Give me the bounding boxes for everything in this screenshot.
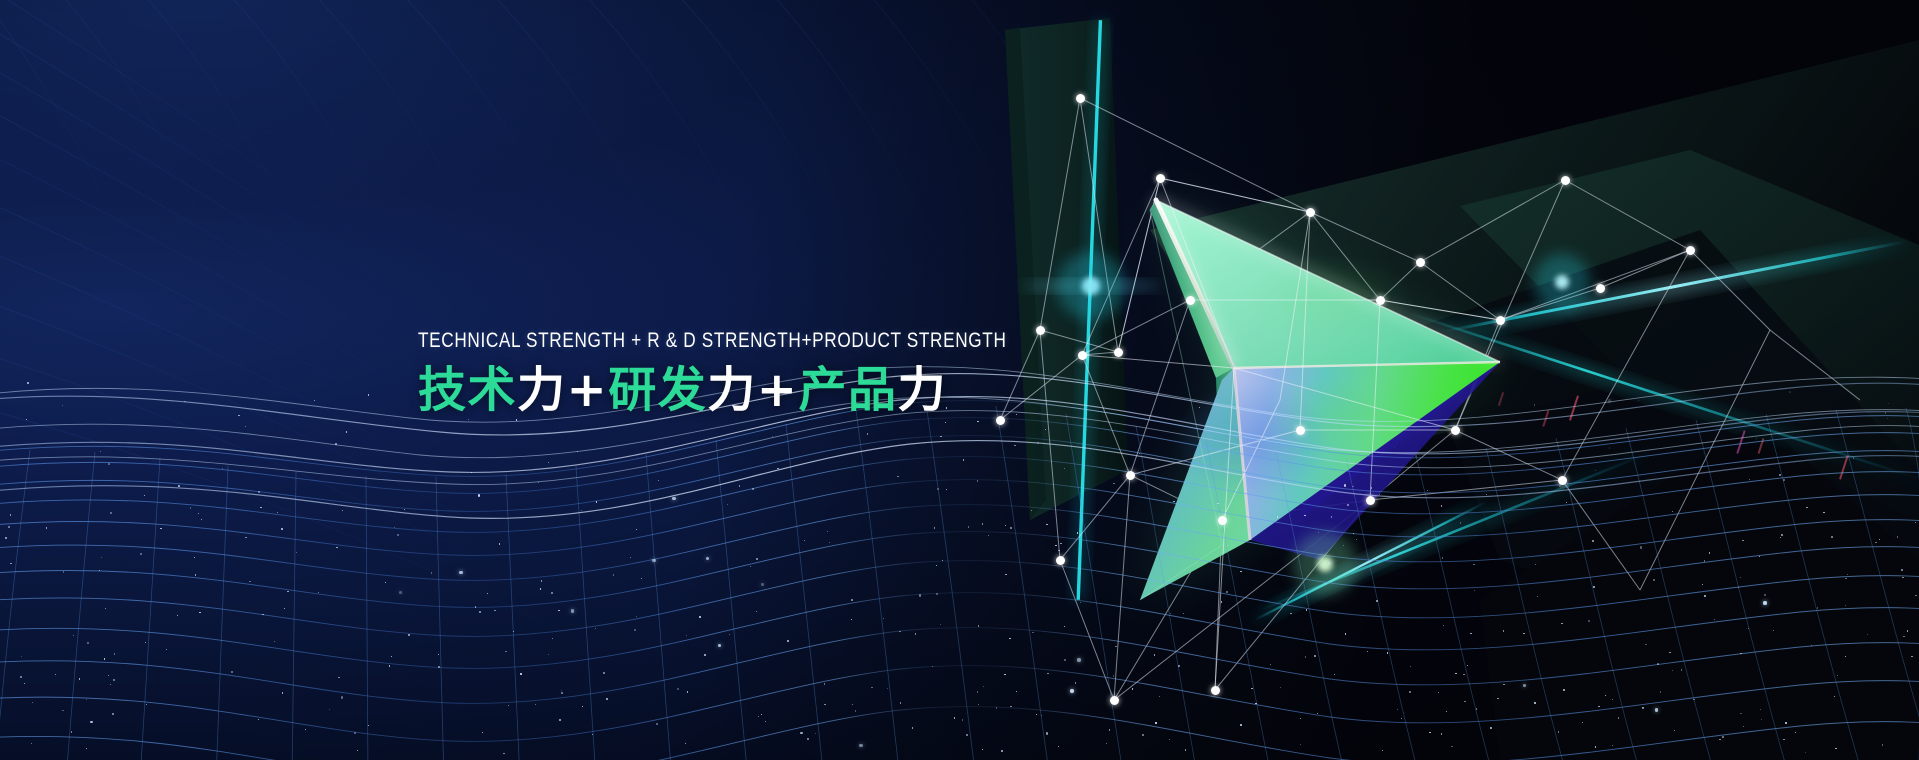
title-segment-3: 研发 <box>608 362 707 418</box>
network-node <box>1376 296 1385 305</box>
network-node <box>1156 174 1165 183</box>
network-node <box>1558 476 1567 485</box>
title-segment-7: 力 <box>898 362 948 418</box>
network-node <box>1686 246 1695 255</box>
network-node <box>1496 316 1505 325</box>
hero-banner: TECHNICAL STRENGTH + R & D STRENGTH+PROD… <box>0 0 1919 760</box>
network-node <box>1186 296 1195 305</box>
network-node <box>1076 94 1085 103</box>
network-node <box>1451 426 1460 435</box>
title-segment-5: + <box>757 362 799 418</box>
title-segment-1: 力 <box>517 362 567 418</box>
page-title: 技术力+研发力+产品力 <box>418 365 1154 416</box>
title-segment-4: 力 <box>707 362 757 418</box>
network-node <box>1056 556 1065 565</box>
network-node <box>1110 696 1119 705</box>
network-node <box>1561 176 1570 185</box>
network-node <box>1306 208 1315 217</box>
network-node <box>1211 686 1220 695</box>
network-node <box>996 416 1005 425</box>
network-node <box>1366 496 1375 505</box>
network-node <box>1218 516 1227 525</box>
eyebrow-text: TECHNICAL STRENGTH + R & D STRENGTH+PROD… <box>418 330 1007 352</box>
network-node <box>1296 426 1305 435</box>
network-node <box>1596 284 1605 293</box>
headline-block: TECHNICAL STRENGTH + R & D STRENGTH+PROD… <box>418 330 1154 415</box>
title-segment-2: + <box>567 362 609 418</box>
title-segment-0: 技术 <box>418 362 517 418</box>
network-node <box>1416 258 1425 267</box>
network-node <box>1126 471 1135 480</box>
title-segment-6: 产品 <box>799 362 898 418</box>
